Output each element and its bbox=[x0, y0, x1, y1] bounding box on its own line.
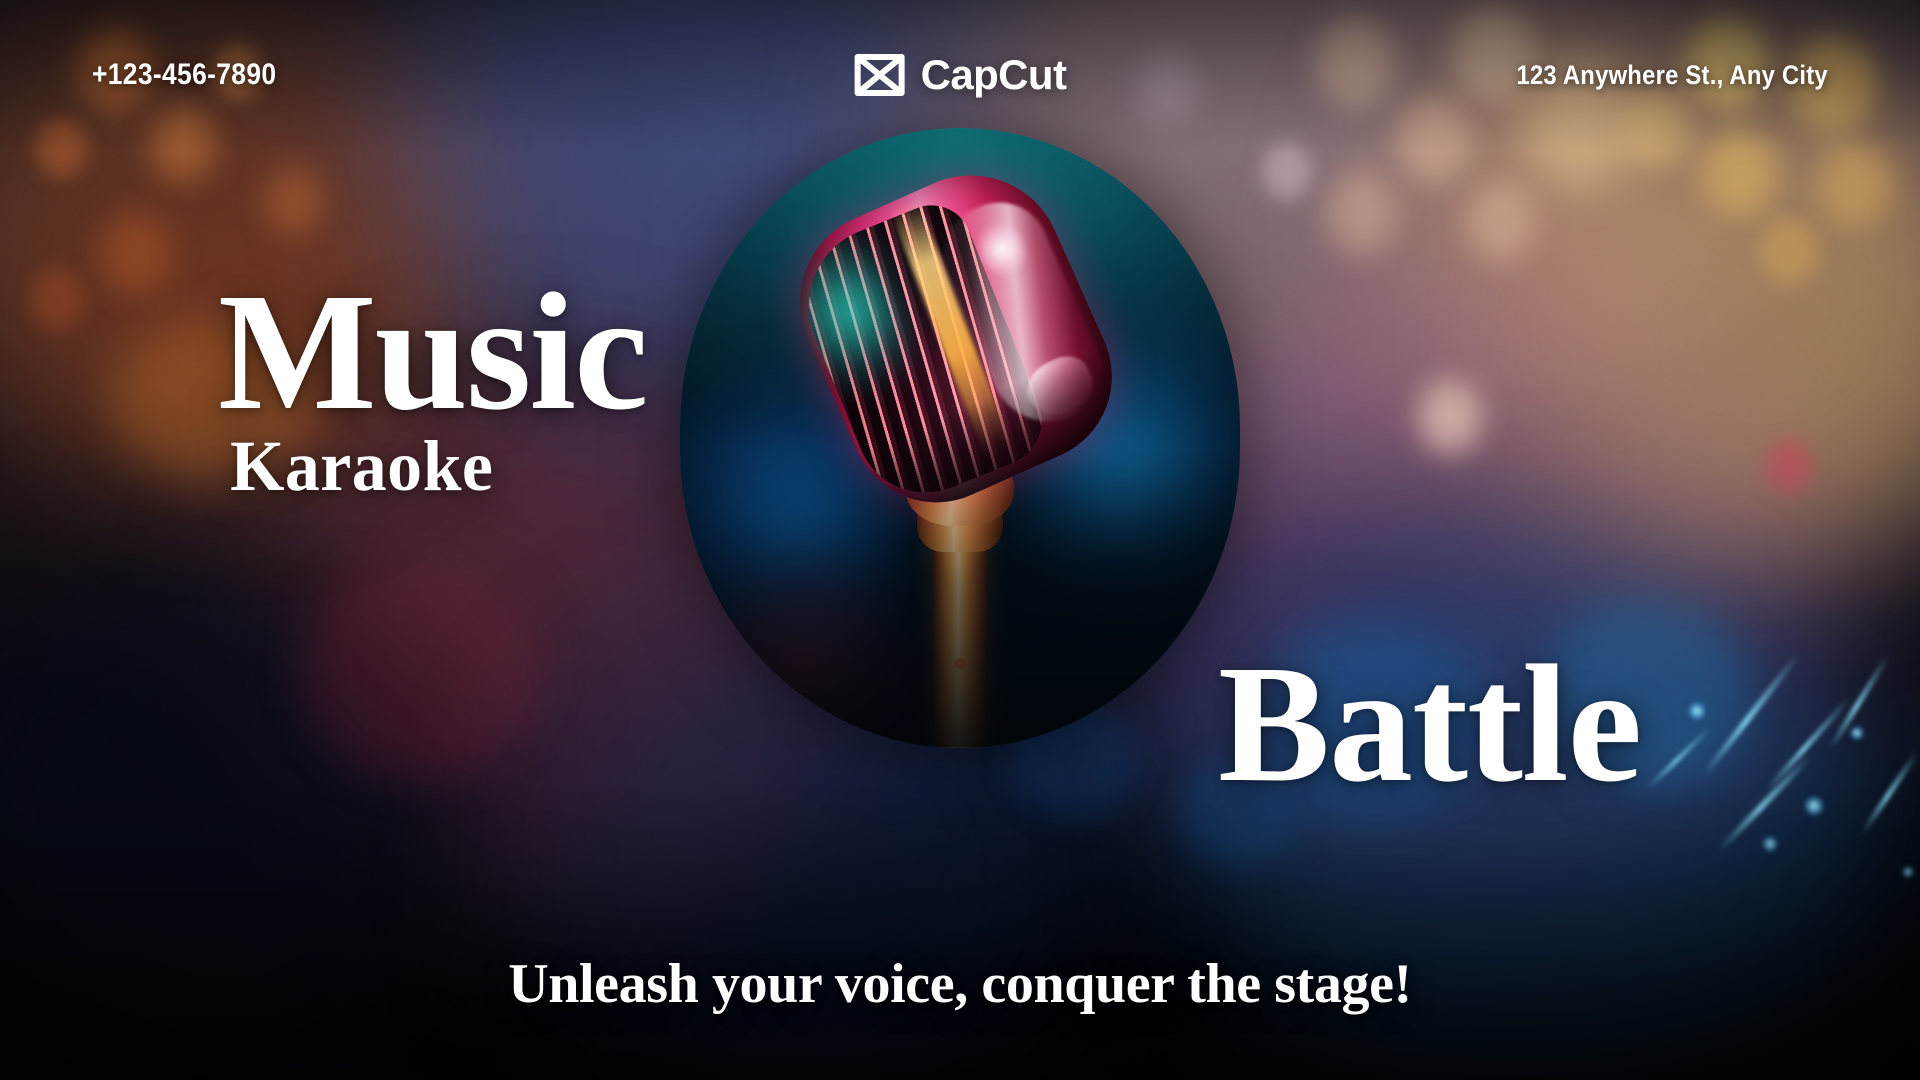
headline-battle: Battle bbox=[1218, 640, 1641, 808]
capcut-wordmark: CapCut bbox=[921, 51, 1067, 99]
poster-header: +123-456-7890 CapCut 123 Anywhere St., A… bbox=[0, 0, 1920, 150]
poster-tagline: Unleash your voice, conquer the stage! bbox=[508, 952, 1412, 1016]
contact-phone[interactable]: +123-456-7890 bbox=[92, 58, 276, 92]
headline-karaoke: Karaoke bbox=[230, 430, 493, 502]
capcut-clapper-icon bbox=[854, 53, 906, 97]
headline-music: Music bbox=[218, 268, 647, 436]
karaoke-poster: +123-456-7890 CapCut 123 Anywhere St., A… bbox=[0, 0, 1920, 1080]
arch-bottom-shade bbox=[680, 448, 1240, 748]
arch-frame bbox=[680, 128, 1240, 748]
contact-address[interactable]: 123 Anywhere St., Any City bbox=[1517, 60, 1828, 91]
hero-microphone-panel bbox=[680, 128, 1240, 748]
capcut-brand[interactable]: CapCut bbox=[854, 51, 1067, 99]
